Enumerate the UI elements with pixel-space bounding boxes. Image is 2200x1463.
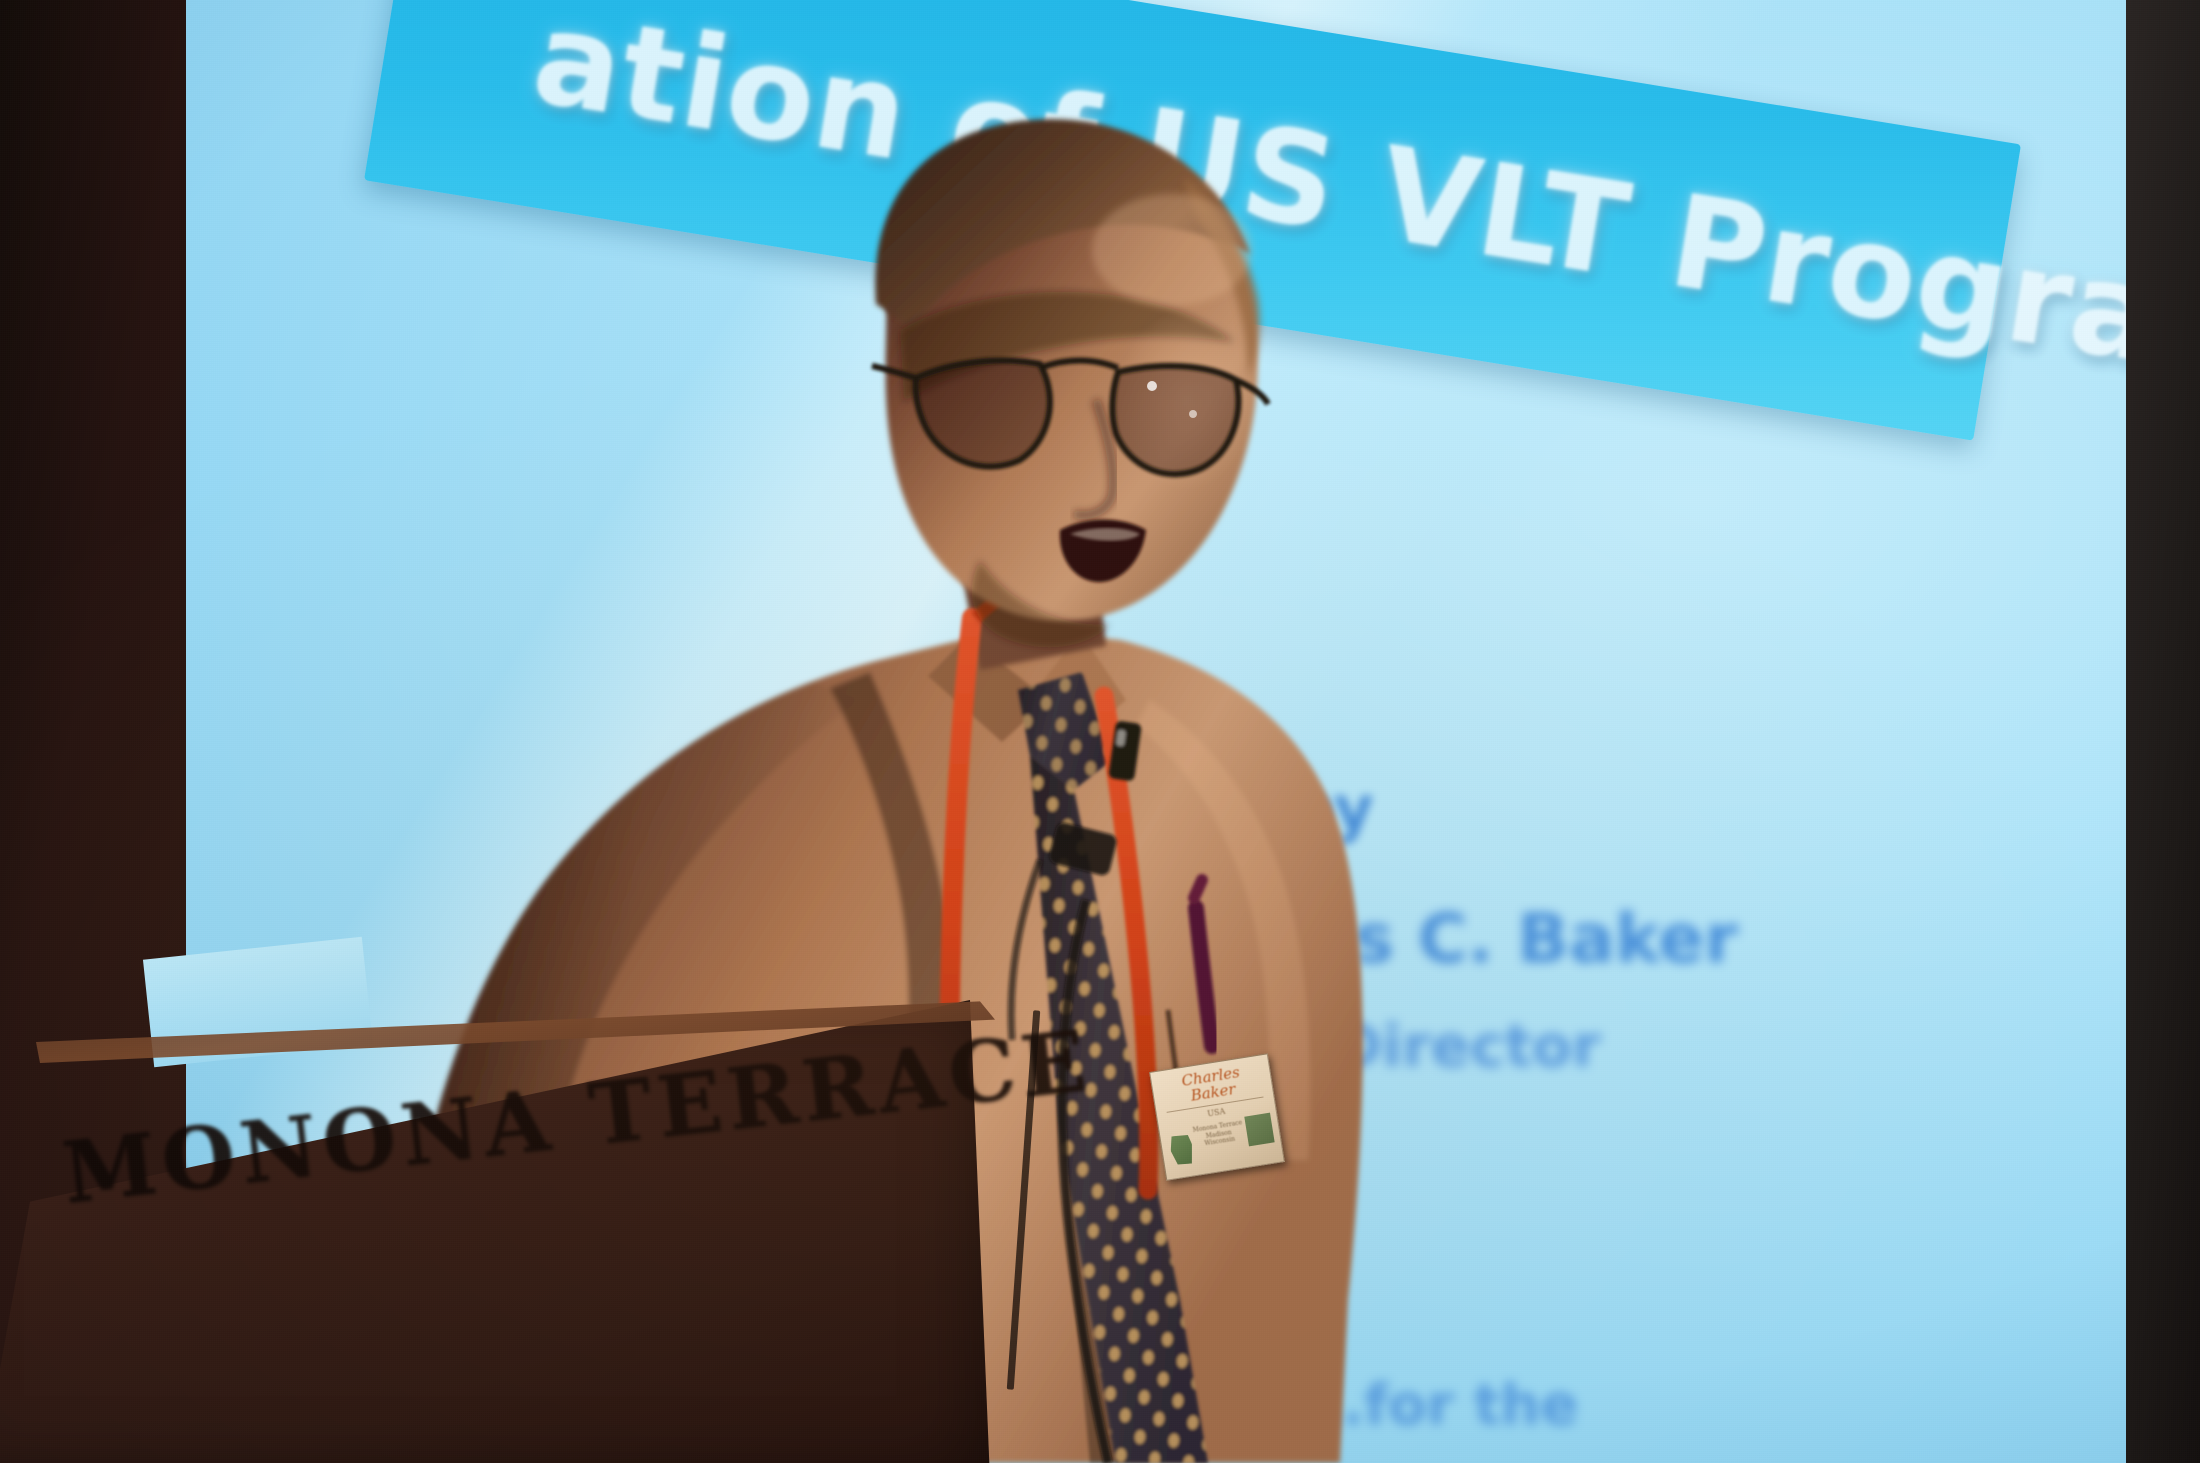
slide-title-text: ation of US VLT Program to ITER <box>376 0 2128 504</box>
slide-title-banner: ation of US VLT Program to ITER <box>364 0 2021 441</box>
slide-author-role: ...Director <box>1268 1012 1601 1080</box>
badge-org-text: Monona Terrace Madison Wisconsin <box>1189 1119 1248 1150</box>
wall-right <box>2126 0 2200 1463</box>
badge-logo-icon <box>1244 1113 1274 1147</box>
photograph-scene: ation of US VLT Program to ITER by ...es… <box>0 0 2200 1463</box>
slide-by-label: by <box>1289 772 1374 845</box>
name-badge: Charles Baker USA Monona Terrace Madison… <box>1149 1053 1285 1180</box>
podium: MONONA TERRACE <box>0 1000 1020 1463</box>
slide-footer-text: ...for the <box>1300 1373 1578 1438</box>
slide-author-name: ...es C. Baker <box>1230 900 1738 979</box>
